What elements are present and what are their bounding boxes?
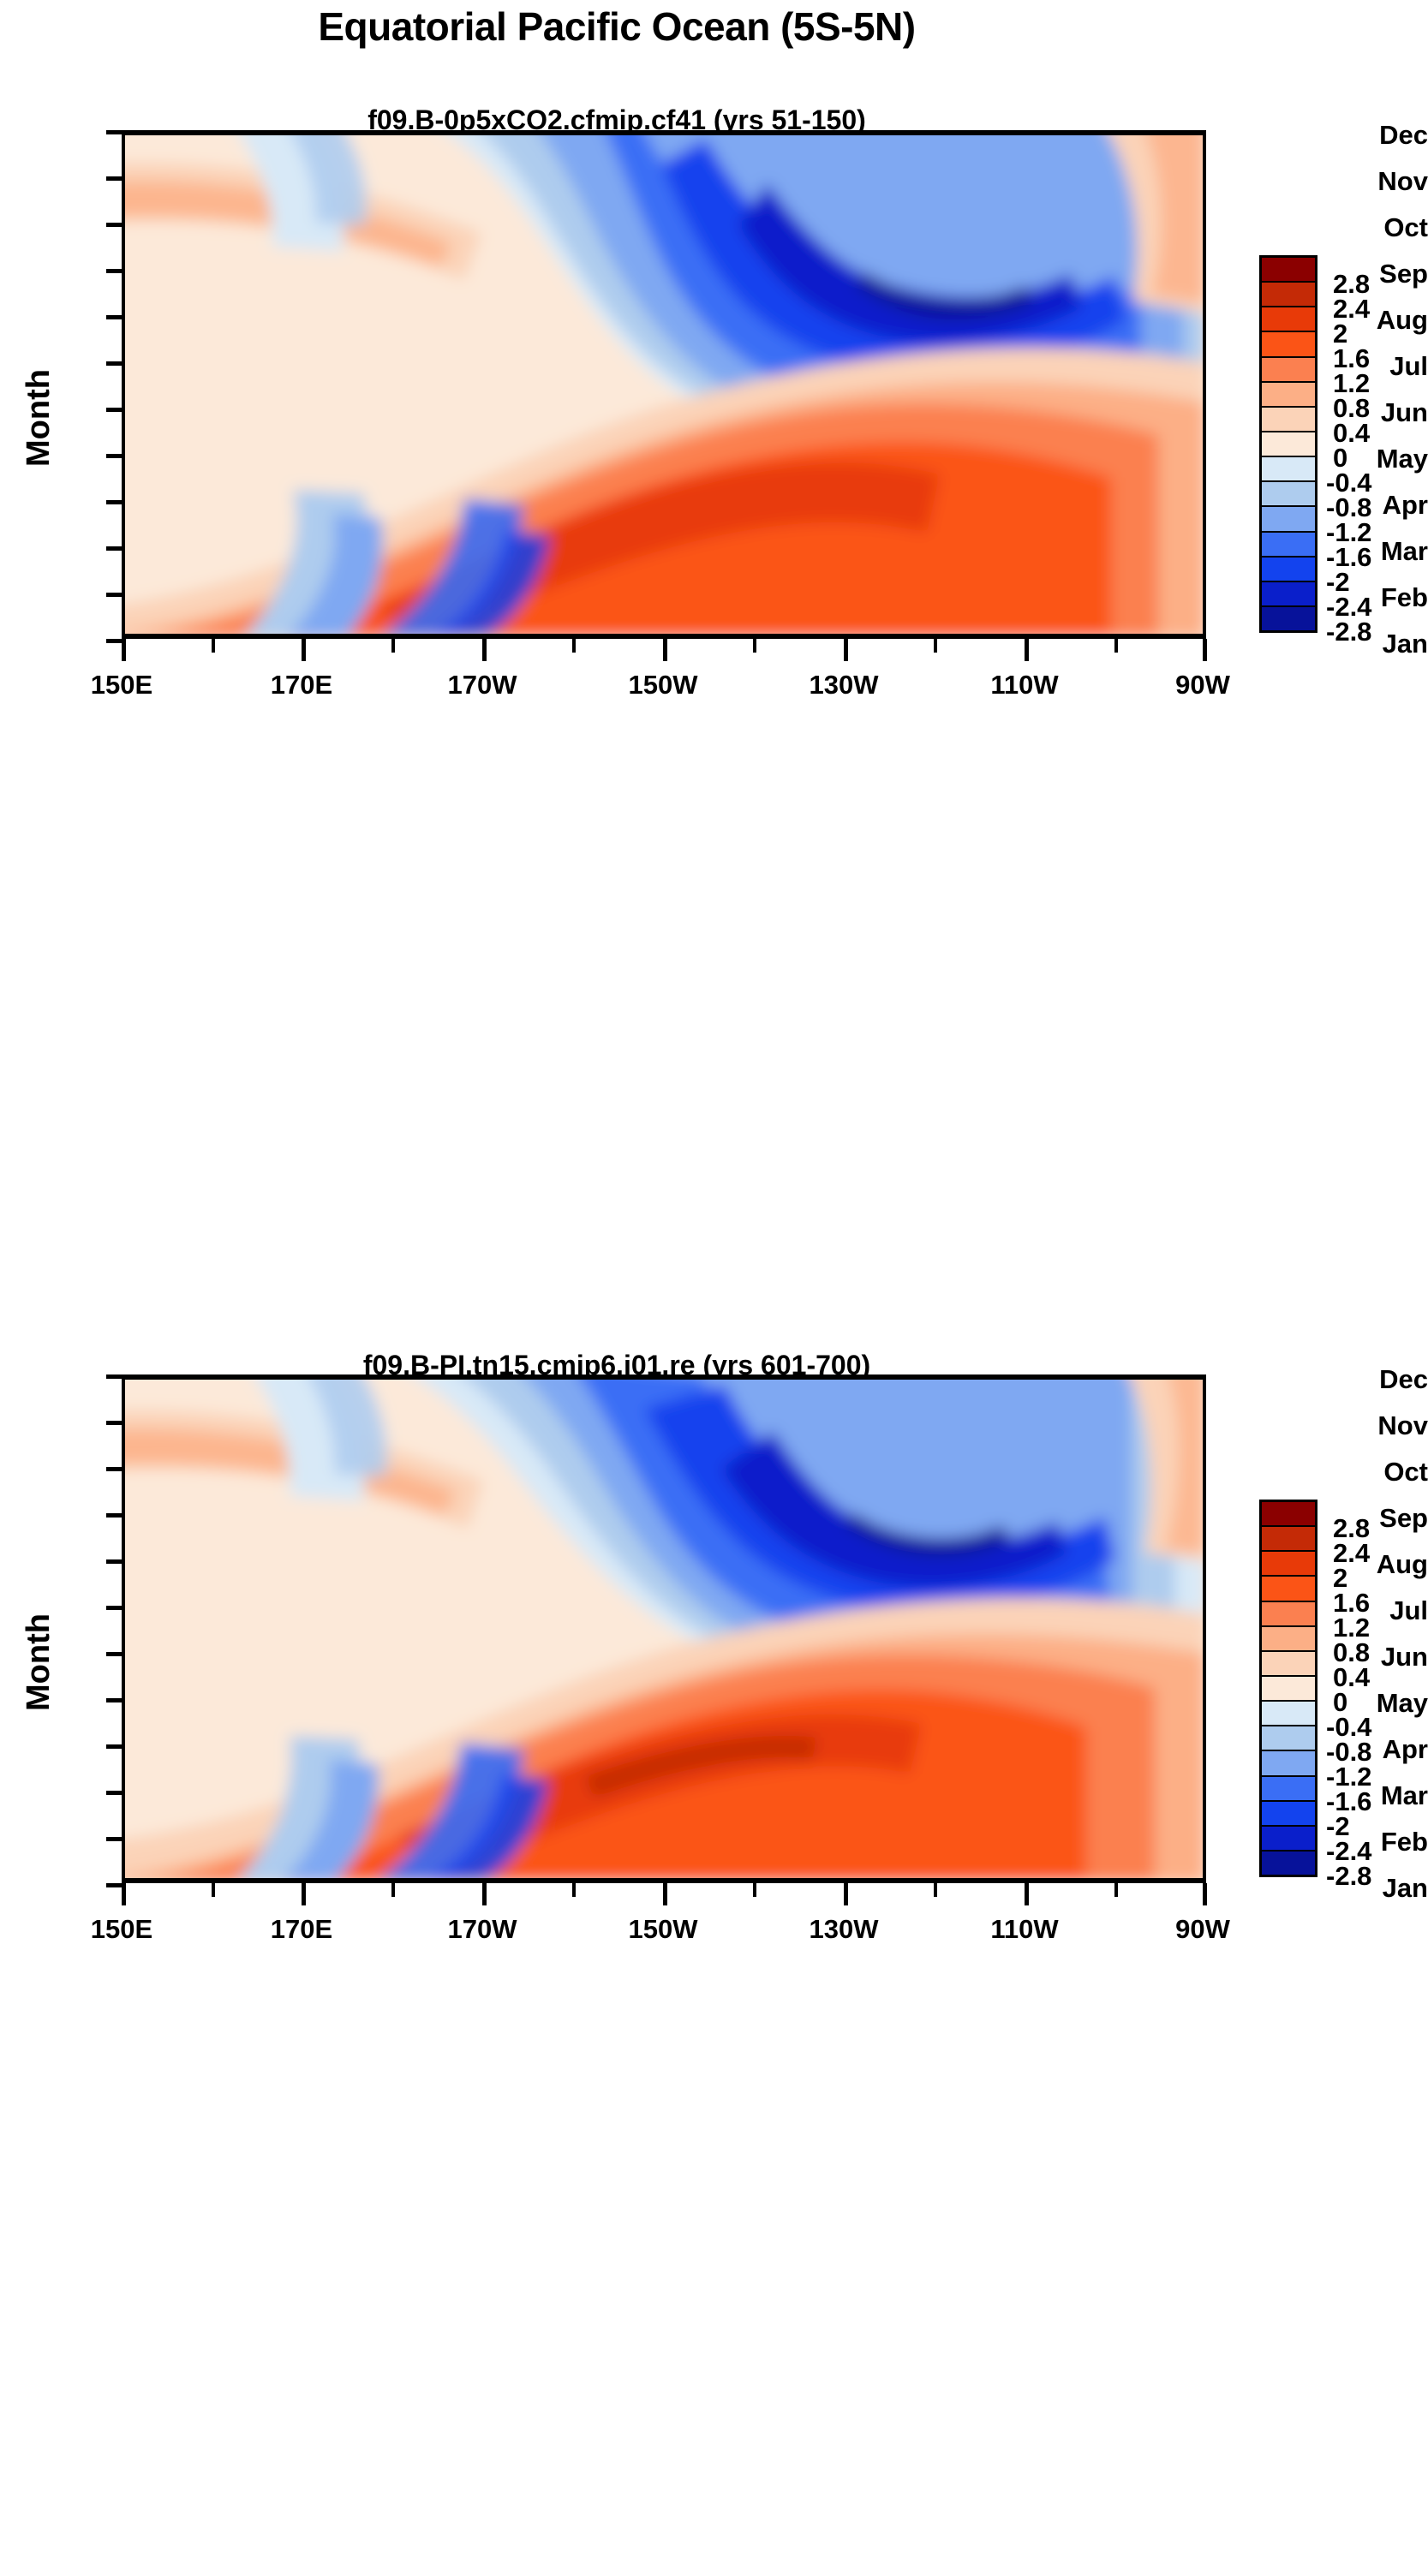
xtick-label-170w: 170W: [414, 670, 551, 701]
xtick-minor: [1114, 1883, 1118, 1897]
xtick-label-150e: 150E: [53, 670, 190, 701]
xtick-label-170e: 170E: [233, 670, 370, 701]
xtick-minor: [753, 1883, 756, 1897]
cbar-cell: [1262, 482, 1315, 507]
cbar-cell: [1262, 432, 1315, 457]
xtick-major: [122, 1883, 126, 1905]
panel-2-y-axis-label: Month: [21, 1613, 57, 1711]
xtick-minor: [753, 639, 756, 653]
xtick-label-150w: 150W: [595, 670, 732, 701]
xtick-minor: [391, 639, 395, 653]
ytick-mark: [106, 1606, 122, 1610]
xtick-minor: [1114, 639, 1118, 653]
cbar-cell: [1262, 558, 1315, 582]
cbar-cell: [1262, 1577, 1315, 1601]
ytick-mark: [106, 639, 122, 643]
ytick-mark: [106, 1467, 122, 1471]
xtick-minor: [572, 639, 576, 653]
xtick-major: [482, 639, 487, 661]
ytick-label-oct: Oct: [1327, 1457, 1428, 1488]
xtick-label-150w: 150W: [595, 1914, 732, 1945]
xtick-major: [1025, 639, 1029, 661]
cbar-cell: [1262, 533, 1315, 558]
cbar-cell: [1262, 1502, 1315, 1527]
ytick-mark: [106, 1513, 122, 1518]
xtick-label-150e: 150E: [53, 1914, 190, 1945]
ytick-mark: [106, 1744, 122, 1749]
xtick-major: [122, 639, 126, 661]
ytick-mark: [106, 315, 122, 319]
ytick-mark: [106, 1837, 122, 1841]
xtick-label-110w: 110W: [956, 670, 1093, 701]
ytick-mark: [106, 1421, 122, 1425]
ytick-mark: [106, 269, 122, 273]
xtick-major: [482, 1883, 487, 1905]
ytick-mark: [106, 176, 122, 181]
xtick-major: [1025, 1883, 1029, 1905]
xtick-label-130w: 130W: [775, 670, 912, 701]
cbar-label: -2.8: [1326, 1861, 1371, 1892]
cbar-cell: [1262, 1527, 1315, 1552]
xtick-minor: [212, 639, 215, 653]
xtick-label-90w: 90W: [1134, 670, 1271, 701]
xtick-minor: [212, 1883, 215, 1897]
cbar-cell: [1262, 258, 1315, 283]
cbar-cell: [1262, 1751, 1315, 1776]
cbar-cell: [1262, 1851, 1315, 1875]
xtick-major: [1203, 1883, 1207, 1905]
cbar-cell: [1262, 283, 1315, 307]
panel-1: f09.B-0p5xCO2.cfmip.cf41 (yrs 51-150) Su…: [0, 0, 1428, 1302]
ytick-mark: [106, 546, 122, 551]
xtick-major: [1203, 639, 1207, 661]
ytick-mark: [106, 223, 122, 227]
cbar-cell: [1262, 1602, 1315, 1627]
panel-2-contour-plot: [122, 1374, 1206, 1883]
ytick-mark: [106, 1791, 122, 1795]
cbar-cell: [1262, 457, 1315, 482]
ytick-label-dec: Dec: [1327, 1364, 1428, 1395]
xtick-label-170w: 170W: [414, 1914, 551, 1945]
panel-1-contour-svg: [122, 130, 1206, 639]
cbar-cell: [1262, 582, 1315, 607]
ytick-mark: [106, 1374, 122, 1379]
xtick-label-130w: 130W: [775, 1914, 912, 1945]
cbar-cell: [1262, 1827, 1315, 1851]
cbar-cell: [1262, 1726, 1315, 1751]
panel-1-colorbar-cells: [1262, 258, 1315, 630]
cbar-cell: [1262, 1777, 1315, 1802]
ytick-mark: [106, 1559, 122, 1564]
xtick-minor: [934, 639, 937, 653]
cbar-cell: [1262, 607, 1315, 630]
cbar-cell: [1262, 507, 1315, 532]
ytick-label-dec: Dec: [1327, 120, 1428, 151]
cbar-cell: [1262, 1702, 1315, 1726]
ytick-mark: [106, 500, 122, 504]
ytick-label-oct: Oct: [1327, 212, 1428, 243]
xtick-major: [302, 639, 306, 661]
cbar-cell: [1262, 1552, 1315, 1577]
cbar-cell: [1262, 332, 1315, 357]
xtick-major: [844, 639, 848, 661]
ytick-mark: [106, 130, 122, 134]
panel-2: f09.B-PI.tn15.cmip6.j01.re (yrs 601-700)…: [0, 1240, 1428, 2576]
ytick-mark: [106, 1883, 122, 1887]
xtick-minor: [934, 1883, 937, 1897]
ytick-mark: [106, 1652, 122, 1656]
cbar-cell: [1262, 1802, 1315, 1827]
cbar-cell: [1262, 307, 1315, 332]
cbar-cell: [1262, 408, 1315, 432]
cbar-cell: [1262, 1627, 1315, 1652]
xtick-label-110w: 110W: [956, 1914, 1093, 1945]
xtick-major: [663, 639, 667, 661]
cbar-cell: [1262, 1652, 1315, 1677]
ytick-mark: [106, 1698, 122, 1702]
xtick-major: [302, 1883, 306, 1905]
panel-1-contour-plot: [122, 130, 1206, 639]
xtick-minor: [572, 1883, 576, 1897]
xtick-label-90w: 90W: [1134, 1914, 1271, 1945]
xtick-major: [663, 1883, 667, 1905]
xtick-major: [844, 1883, 848, 1905]
cbar-cell: [1262, 383, 1315, 408]
cbar-cell: [1262, 1677, 1315, 1702]
ytick-mark: [106, 593, 122, 597]
cbar-label: -2.8: [1326, 617, 1371, 647]
ytick-label-nov: Nov: [1327, 166, 1428, 197]
panel-2-colorbar-cells: [1262, 1502, 1315, 1875]
cbar-cell: [1262, 358, 1315, 383]
ytick-mark: [106, 408, 122, 412]
ytick-label-nov: Nov: [1327, 1410, 1428, 1441]
panel-2-contour-svg: [122, 1374, 1206, 1883]
ytick-mark: [106, 361, 122, 366]
xtick-label-170e: 170E: [233, 1914, 370, 1945]
panel-1-y-axis-label: Month: [21, 369, 57, 467]
ytick-mark: [106, 454, 122, 458]
xtick-minor: [391, 1883, 395, 1897]
